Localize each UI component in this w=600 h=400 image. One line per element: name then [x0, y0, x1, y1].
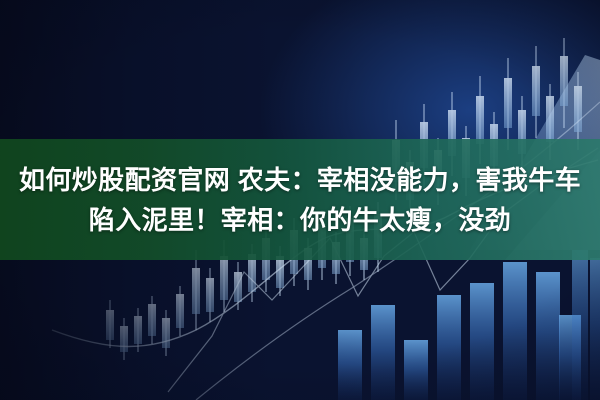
headline-band: 如何炒股配资官网 农夫：宰相没能力，害我牛车 陷入泥里！宰相：你的牛太瘦，没劲: [0, 139, 600, 260]
headline-line-2: 陷入泥里！宰相：你的牛太瘦，没劲: [0, 200, 600, 240]
headline-text-block: 如何炒股配资官网 农夫：宰相没能力，害我牛车 陷入泥里！宰相：你的牛太瘦，没劲: [0, 160, 600, 240]
headline-line-1: 如何炒股配资官网 农夫：宰相没能力，害我牛车: [0, 160, 600, 200]
banner-image: 如何炒股配资官网 农夫：宰相没能力，害我牛车 陷入泥里！宰相：你的牛太瘦，没劲: [0, 0, 600, 400]
